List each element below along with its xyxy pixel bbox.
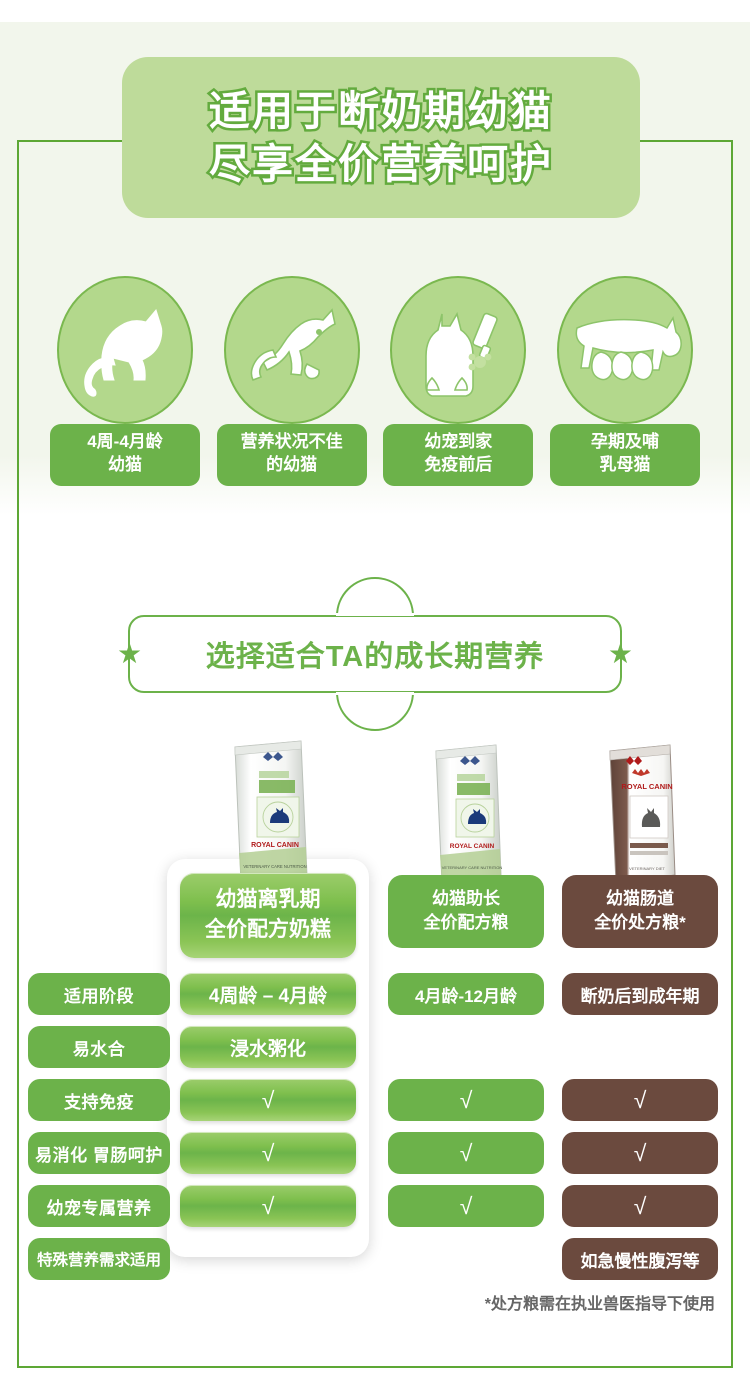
product-name-line2: 全价配方奶糕 [184, 915, 352, 945]
audience-row: 4周-4月龄 幼猫 营养状况不佳 的幼猫 [50, 276, 700, 486]
notch-top-decor [336, 577, 414, 616]
product-bag-image-white-green: ROYAL CANIN VETERINARY CARE NUTRITION [388, 735, 544, 885]
row-label: 易消化 胃肠呵护 [28, 1132, 170, 1174]
row-label: 幼宠专属营养 [28, 1185, 170, 1227]
audience-chip-line1: 孕期及哺 [552, 431, 698, 454]
audience-chip-line1: 幼宠到家 [385, 431, 531, 454]
product-name-line2: 全价处方粮* [566, 911, 714, 935]
cell-hydration [562, 1026, 718, 1068]
row-label: 易水合 [28, 1026, 170, 1068]
row-label: 适用阶段 [28, 973, 170, 1015]
cell-digestion: √ [180, 1132, 356, 1174]
cell-special-need [180, 1238, 356, 1280]
row-label-column: 适用阶段 易水合 支持免疫 易消化 胃肠呵护 幼宠专属营养 特殊营养需求适用 [28, 973, 170, 1291]
cell-digestion: √ [388, 1132, 544, 1174]
product-bag-image-brown-white: ROYAL CANIN VETERINARY DIET [562, 735, 718, 885]
cell-hydration: 浸水粥化 [180, 1026, 356, 1068]
audience-chip-line1: 4周-4月龄 [52, 431, 198, 454]
cell-digestion: √ [562, 1132, 718, 1174]
audience-item-nursing-queen[interactable]: 孕期及哺 乳母猫 [550, 276, 700, 486]
audience-chip-line2: 幼猫 [52, 454, 198, 477]
promo-page: 适用于断奶期幼猫 尽享全价营养呵护 4周-4月龄 幼猫 [0, 0, 750, 1373]
cell-kitten-nutrition: √ [180, 1185, 356, 1227]
notch-bottom-decor [336, 692, 414, 731]
product-name: 幼猫离乳期 全价配方奶糕 [180, 873, 356, 958]
product-name-line2: 全价配方粮 [392, 911, 540, 935]
audience-item-poor-nutrition[interactable]: 营养状况不佳 的幼猫 [217, 276, 367, 486]
banner-line-1: 适用于断奶期幼猫 [209, 87, 553, 135]
audience-chip-line2: 免疫前后 [385, 454, 531, 477]
audience-chip: 孕期及哺 乳母猫 [550, 424, 700, 486]
cell-immunity: √ [180, 1079, 356, 1121]
cell-special-need [388, 1238, 544, 1280]
product-column-kitten-growth[interactable]: ROYAL CANIN VETERINARY CARE NUTRITION 幼猫… [388, 735, 544, 885]
product-column-kitten-gastro[interactable]: ROYAL CANIN VETERINARY DIET 幼猫肠道 全价处方粮* … [562, 735, 718, 885]
product-name-line1: 幼猫肠道 [566, 887, 714, 911]
section-title-box: ★ 选择适合TA的成长期营养 ★ [128, 615, 622, 693]
cell-stage: 4周龄 – 4月龄 [180, 973, 356, 1015]
star-right-icon: ★ [608, 640, 633, 668]
product-bag-image-white-green: ROYAL CANIN VETERINARY CARE NUTRITION [180, 735, 356, 885]
cell-kitten-nutrition: √ [388, 1185, 544, 1227]
audience-chip-line2: 乳母猫 [552, 454, 698, 477]
cell-hydration [388, 1026, 544, 1068]
audience-chip-line1: 营养状况不佳 [219, 431, 365, 454]
svg-text:ROYAL CANIN: ROYAL CANIN [621, 782, 672, 791]
product-name-line1: 幼猫离乳期 [184, 885, 352, 915]
cell-immunity: √ [562, 1079, 718, 1121]
cat-sitting-icon [57, 276, 193, 424]
audience-chip-line2: 的幼猫 [219, 454, 365, 477]
product-name-line1: 幼猫助长 [392, 887, 540, 911]
svg-text:VETERINARY CARE NUTRITION: VETERINARY CARE NUTRITION [442, 865, 503, 870]
cell-kitten-nutrition: √ [562, 1185, 718, 1227]
section-title-text: 选择适合TA的成长期营养 [206, 633, 545, 675]
product-name: 幼猫肠道 全价处方粮* [562, 875, 718, 948]
banner-line-2: 尽享全价营养呵护 [209, 140, 553, 188]
audience-item-vaccination[interactable]: 幼宠到家 免疫前后 [383, 276, 533, 486]
svg-text:ROYAL CANIN: ROYAL CANIN [251, 842, 299, 849]
comparison-table: 适用阶段 易水合 支持免疫 易消化 胃肠呵护 幼宠专属营养 特殊营养需求适用 [0, 735, 750, 1315]
audience-chip: 营养状况不佳 的幼猫 [217, 424, 367, 486]
star-left-icon: ★ [117, 640, 142, 668]
cat-grooming-icon [224, 276, 360, 424]
prescription-footnote: *处方粮需在执业兽医指导下使用 [0, 1290, 733, 1314]
row-label: 支持免疫 [28, 1079, 170, 1121]
audience-item-kitten[interactable]: 4周-4月龄 幼猫 [50, 276, 200, 486]
cat-nursing-icon [557, 276, 693, 424]
audience-chip: 4周-4月龄 幼猫 [50, 424, 200, 486]
cat-vaccine-icon [390, 276, 526, 424]
cell-stage: 4月龄-12月龄 [388, 973, 544, 1015]
product-column-kitten-milk[interactable]: ROYAL CANIN VETERINARY CARE NUTRITION 幼猫… [180, 735, 356, 885]
audience-chip: 幼宠到家 免疫前后 [383, 424, 533, 486]
row-label: 特殊营养需求适用 [28, 1238, 170, 1280]
svg-text:VETERINARY CARE NUTRITION: VETERINARY CARE NUTRITION [243, 864, 306, 869]
header-banner: 适用于断奶期幼猫 尽享全价营养呵护 [122, 57, 640, 218]
cell-immunity: √ [388, 1079, 544, 1121]
svg-text:VETERINARY DIET: VETERINARY DIET [629, 866, 665, 871]
product-name: 幼猫助长 全价配方粮 [388, 875, 544, 948]
cell-special-need: 如急慢性腹泻等 [562, 1238, 718, 1280]
svg-text:ROYAL CANIN: ROYAL CANIN [450, 843, 495, 850]
cell-stage: 断奶后到成年期 [562, 973, 718, 1015]
